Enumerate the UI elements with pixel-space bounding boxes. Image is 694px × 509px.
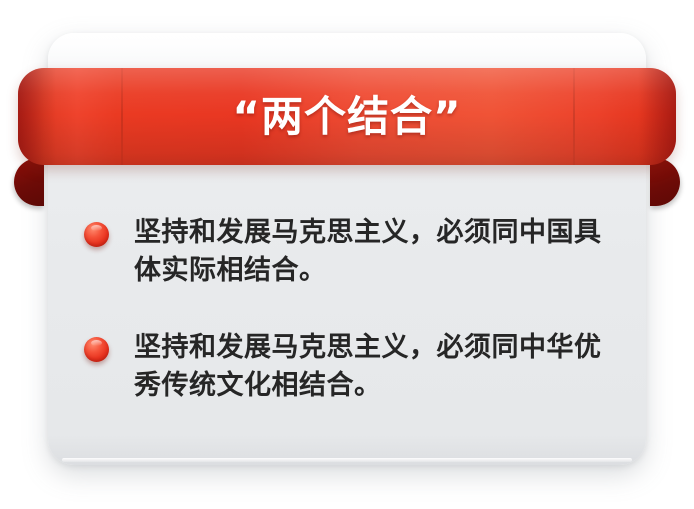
ribbon-tail-left-icon (14, 158, 44, 206)
bullet-dot-icon (84, 337, 109, 362)
list-item-text: 坚持和发展马克思主义，必须同中华优秀传统文化相结合。 (134, 329, 614, 406)
infographic-card-page: “两个结合” 坚持和发展马克思主义，必须同中国具体实际相结合。 坚持和发展马克思… (0, 0, 694, 509)
list-item-text: 坚持和发展马克思主义，必须同中国具体实际相结合。 (134, 214, 614, 291)
bullet-dot-icon (84, 222, 109, 247)
card-bottom-highlight (62, 458, 632, 462)
bullet-list: 坚持和发展马克思主义，必须同中国具体实际相结合。 坚持和发展马克思主义，必须同中… (84, 214, 624, 405)
list-item: 坚持和发展马克思主义，必须同中华优秀传统文化相结合。 (84, 329, 624, 406)
title-ribbon: “两个结合” (0, 62, 694, 212)
list-item: 坚持和发展马克思主义，必须同中国具体实际相结合。 (84, 214, 624, 291)
banner-title: “两个结合” (0, 68, 694, 165)
ribbon-tail-right-icon (650, 158, 680, 206)
